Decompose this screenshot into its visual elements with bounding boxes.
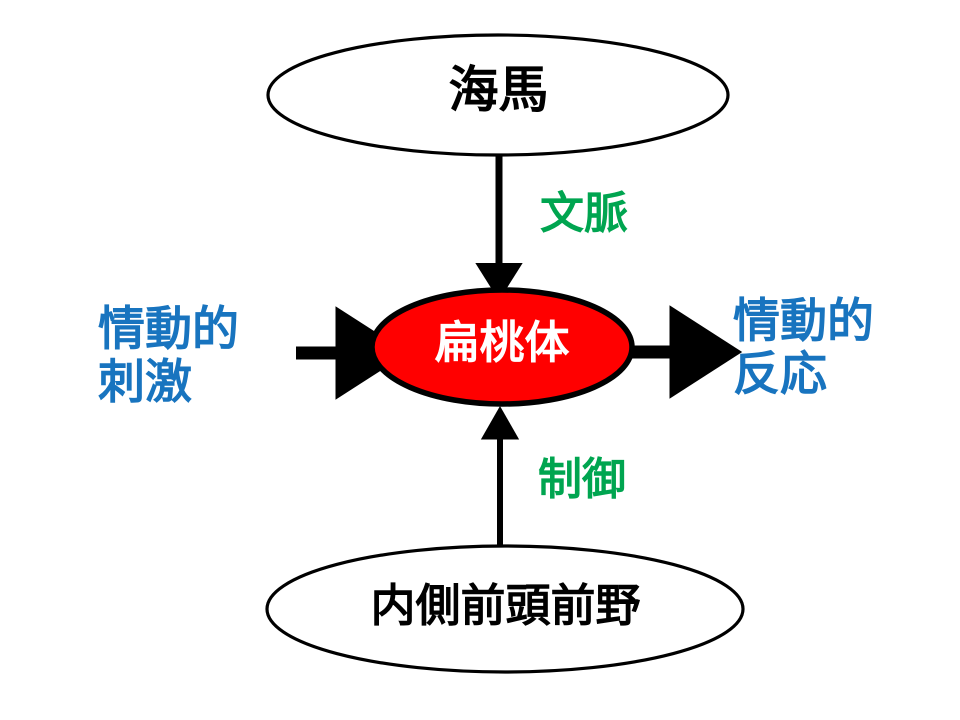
annotation-emotional-stimulus-line2: 刺激	[98, 357, 239, 410]
node-ellipse-mpfc[interactable]	[267, 546, 743, 672]
annotation-emotional-stimulus-line1: 情動的	[98, 304, 239, 357]
node-ellipse-amygdala[interactable]	[372, 290, 632, 404]
node-ellipse-hippocampus[interactable]	[268, 35, 728, 155]
annotation-emotional-response: 情動的 反応	[733, 296, 874, 401]
edge-label-context: 文脈	[540, 192, 628, 236]
annotation-emotional-response-line1: 情動的	[733, 296, 874, 349]
diagram-canvas: 海馬 扁桃体 内側前頭前野 文脈 制御 情動的 刺激 情動的 反応	[0, 0, 960, 720]
edge-label-control: 制御	[538, 458, 626, 502]
annotation-emotional-response-line2: 反応	[733, 349, 874, 402]
annotation-emotional-stimulus: 情動的 刺激	[98, 304, 239, 409]
